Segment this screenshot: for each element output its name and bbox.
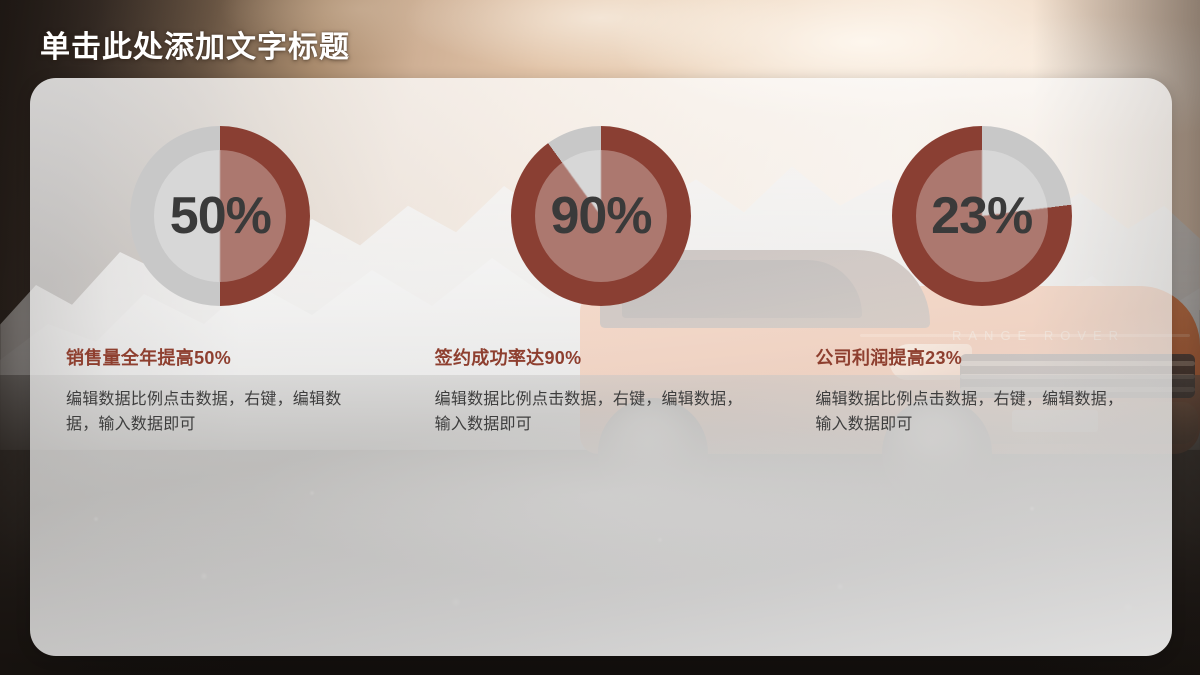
stat-heading-2[interactable]: 签约成功率达90% [411, 344, 792, 370]
stat-column-1: 50% 销售量全年提高50% 编辑数据比例点击数据，右键，编辑数据，输入数据即可 [30, 78, 411, 656]
stat-column-2: 90% 签约成功率达90% 编辑数据比例点击数据，右键，编辑数据，输入数据即可 [411, 78, 792, 656]
presentation-slide: RANGE ROVER 单击此处添加文字标题 50% 销售 [0, 0, 1200, 675]
donut-chart-1[interactable]: 50% [130, 126, 310, 306]
stat-body-3[interactable]: 编辑数据比例点击数据，右键，编辑数据，输入数据即可 [791, 388, 1172, 438]
donut-value-3: 23% [892, 126, 1072, 306]
donut-chart-3[interactable]: 23% [892, 126, 1072, 306]
donut-chart-2[interactable]: 90% [511, 126, 691, 306]
stat-heading-1[interactable]: 销售量全年提高50% [30, 344, 411, 370]
stats-columns: 50% 销售量全年提高50% 编辑数据比例点击数据，右键，编辑数据，输入数据即可… [30, 78, 1172, 656]
stat-body-1[interactable]: 编辑数据比例点击数据，右键，编辑数据，输入数据即可 [30, 388, 411, 438]
stat-column-3: 23% 公司利润提高23% 编辑数据比例点击数据，右键，编辑数据，输入数据即可 [791, 78, 1172, 656]
stat-body-2[interactable]: 编辑数据比例点击数据，右键，编辑数据，输入数据即可 [411, 388, 792, 438]
stat-heading-3[interactable]: 公司利润提高23% [791, 344, 1172, 370]
donut-value-2: 90% [511, 126, 691, 306]
donut-value-1: 50% [130, 126, 310, 306]
page-title[interactable]: 单击此处添加文字标题 [40, 22, 350, 66]
